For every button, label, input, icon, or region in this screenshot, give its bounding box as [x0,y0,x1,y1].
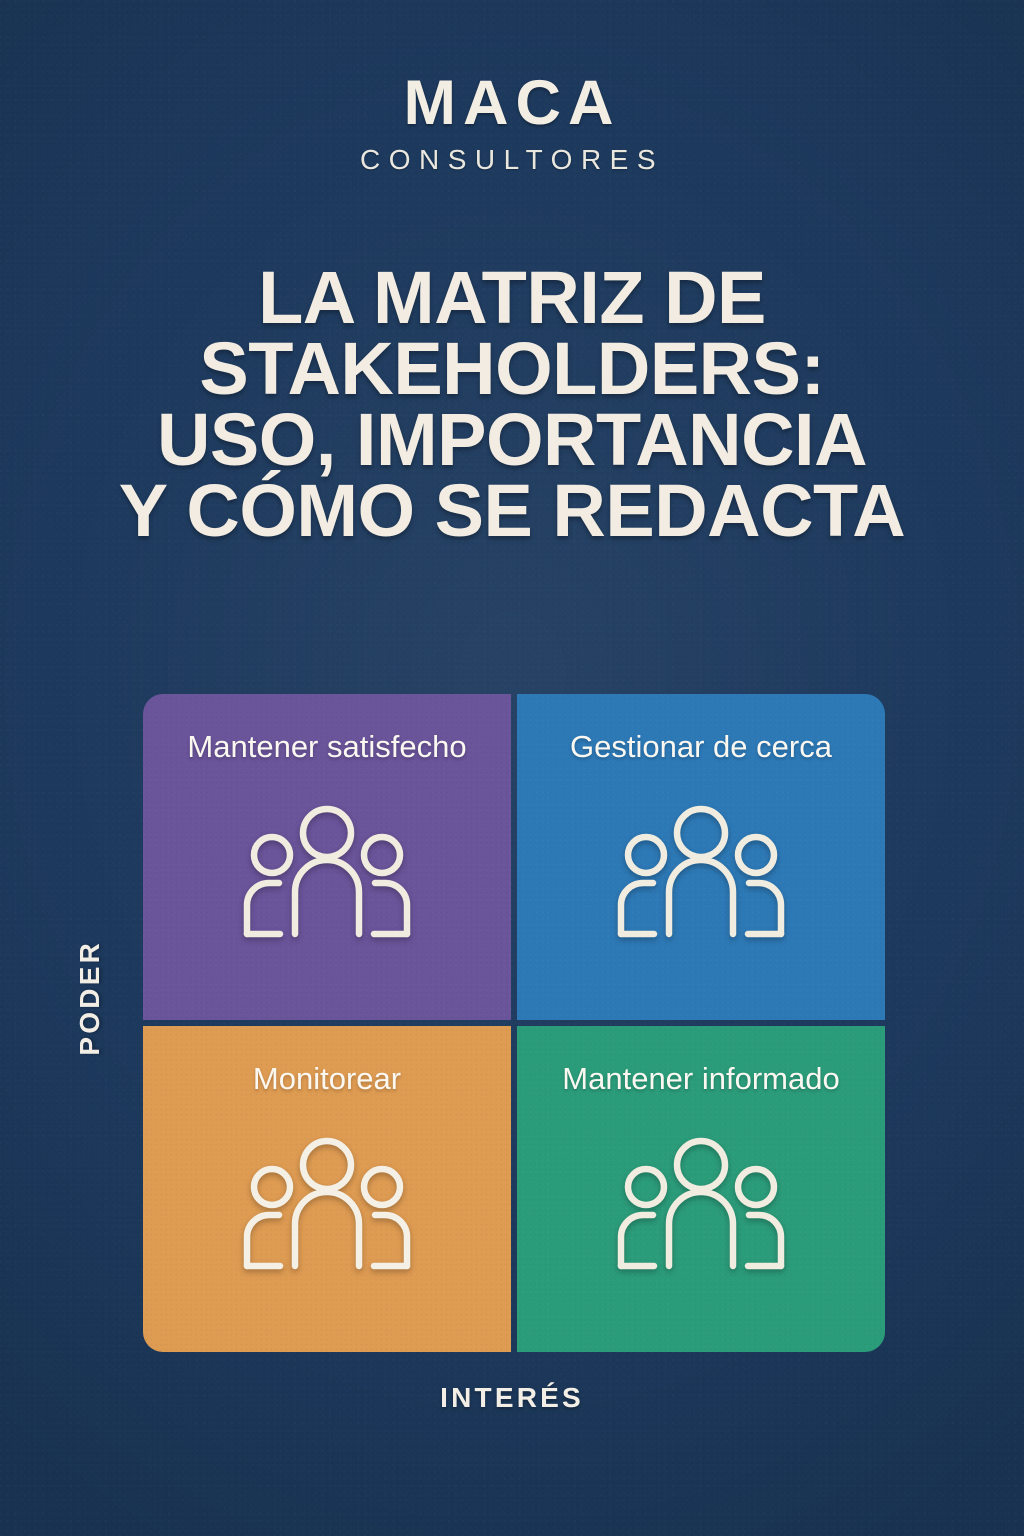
brand-tagline: CONSULTORES [0,146,1024,174]
quadrant-label: Mantener informado [562,1060,839,1099]
people-group-icon [232,1125,422,1275]
quadrant-label: Monitorear [253,1060,401,1099]
people-group-icon [606,793,796,943]
quadrant-mantener-informado[interactable]: Mantener informado [517,1026,885,1352]
quadrant-mantener-satisfecho[interactable]: Mantener satisfecho [143,694,511,1020]
page-title: LA MATRIZ DE STAKEHOLDERS: USO, IMPORTAN… [46,262,978,546]
page-title-line-1: LA MATRIZ DE [46,262,978,333]
quadrant-label: Gestionar de cerca [570,728,832,767]
page-title-line-4: Y CÓMO SE REDACTA [46,475,978,546]
page-title-line-2: STAKEHOLDERS: [46,333,978,404]
brand-name: MACA [0,72,1024,135]
axis-label-interes: INTERÉS [0,1382,1024,1414]
axis-label-poder: PODER [74,940,128,1056]
quadrant-monitorear[interactable]: Monitorear [143,1026,511,1352]
people-group-icon [606,1125,796,1275]
quadrant-gestionar-de-cerca[interactable]: Gestionar de cerca [517,694,885,1020]
brand-logo: MACA CONSULTORES [0,72,1024,174]
page-title-line-3: USO, IMPORTANCIA [46,404,978,475]
poster-canvas: MACA CONSULTORES LA MATRIZ DE STAKEHOLDE… [0,0,1024,1536]
stakeholder-matrix: Mantener satisfecho Gestionar de cerca [143,694,885,1352]
quadrant-label: Mantener satisfecho [187,728,466,767]
people-group-icon [232,793,422,943]
